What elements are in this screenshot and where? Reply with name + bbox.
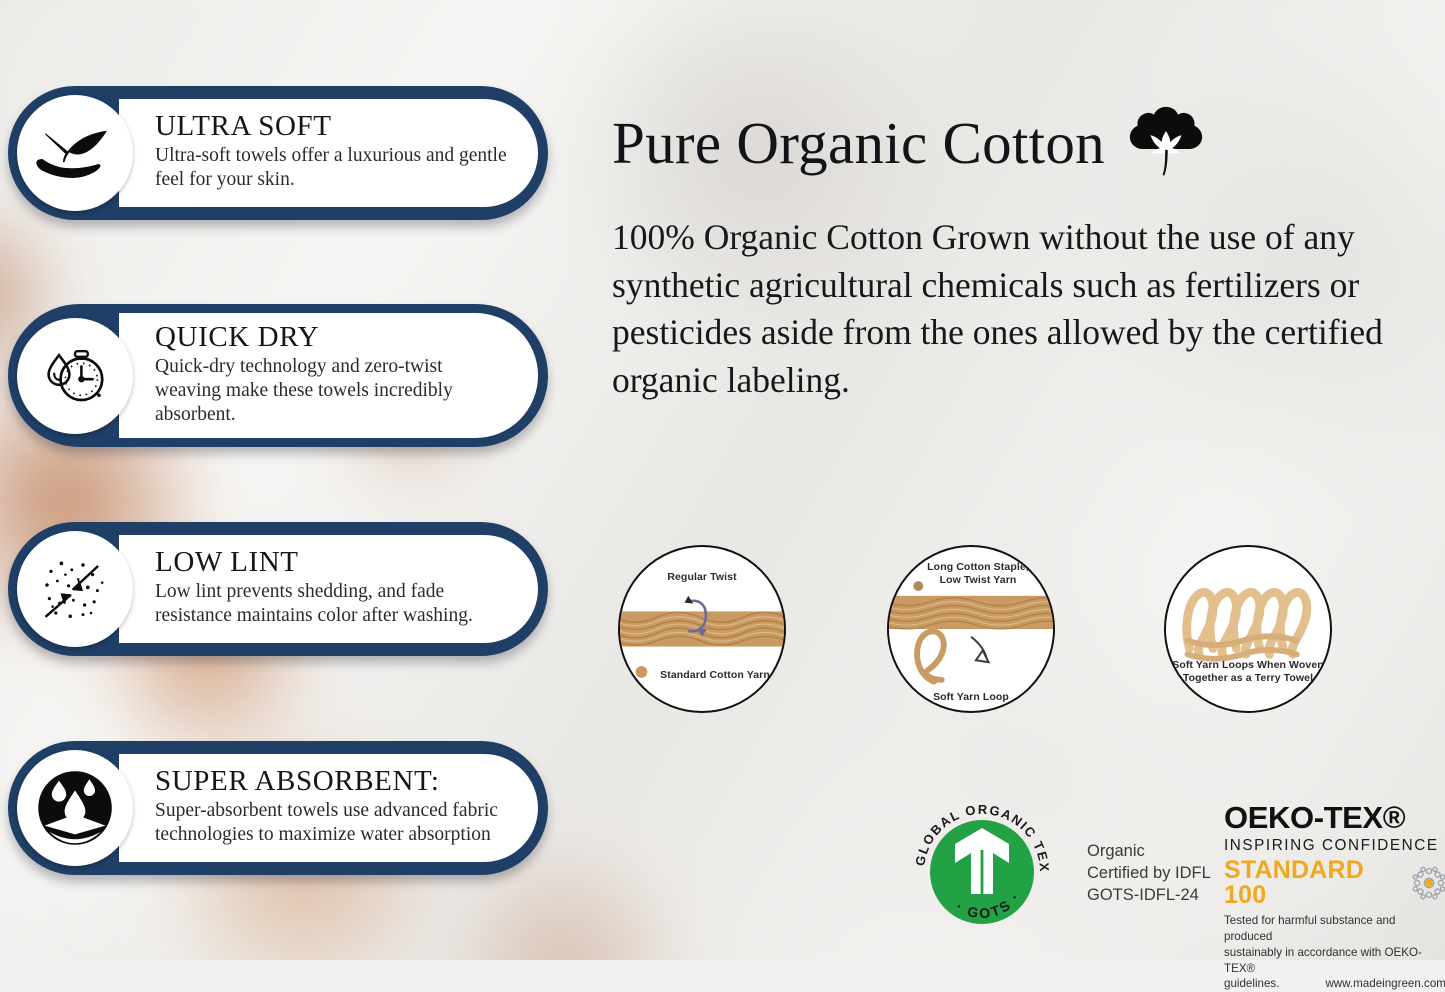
oeko-url: www.madeingreen.com (1325, 976, 1445, 992)
gots-logo: GLOBAL ORGANIC TEXTILE STANDARD · GOTS · (902, 792, 1062, 952)
diagram-bottom-label: Soft Yarn Loops When Woven Together as a… (1166, 659, 1330, 685)
headline-row: Pure Organic Cotton (612, 100, 1445, 186)
hero-body-text: 100% Organic Cotton Grown without the us… (612, 214, 1412, 404)
feature-title: ULTRA SOFT (155, 111, 512, 142)
gots-detail-line-1: Organic (1087, 840, 1211, 862)
feature-title: QUICK DRY (155, 322, 512, 353)
certifications-group: GLOBAL ORGANIC TEXTILE STANDARD · GOTS ·… (612, 780, 1445, 960)
feather-on-hand-icon (35, 113, 115, 193)
feature-card-quick-dry[interactable]: QUICK DRY Quick-dry technology and zero-… (8, 304, 548, 447)
oeko-brand-name: OEKO-TEX® (1224, 802, 1445, 833)
feature-list: ULTRA SOFT Ultra-soft towels offer a lux… (0, 0, 565, 960)
terry-loops-illustration (1166, 547, 1330, 711)
terry-towel-loops-diagram: Soft Yarn Loops When Woven Together as a… (1164, 545, 1332, 713)
oeko-tex-logo: OEKO-TEX® INSPIRING CONFIDENCE STANDARD … (1224, 802, 1445, 992)
cotton-boll-icon (1123, 100, 1209, 186)
diagram-top-label: Long Cotton Staple, Low Twist Yarn (889, 561, 1053, 587)
gots-seal-icon: GLOBAL ORGANIC TEXTILE STANDARD · GOTS · (902, 792, 1062, 952)
lint-particles-icon (35, 549, 115, 629)
feature-card-super-absorbent[interactable]: SUPER ABSORBENT: Super-absorbent towels … (8, 741, 548, 875)
oeko-sunburst-icon (1412, 866, 1445, 900)
feature-icon-badge (17, 531, 133, 647)
feature-description: Quick-dry technology and zero-twist weav… (155, 355, 512, 428)
gots-certificate-details: Organic Certified by IDFL GOTS-IDFL-24 (1087, 840, 1211, 906)
feature-text-panel: SUPER ABSORBENT: Super-absorbent towels … (119, 754, 538, 862)
feature-card-low-lint[interactable]: LOW LINT Low lint prevents shedding, and… (8, 522, 548, 656)
oeko-fine-line-3: guidelines. (1224, 976, 1279, 992)
diagram-bottom-label: Soft Yarn Loop (889, 691, 1053, 704)
feature-title: LOW LINT (155, 547, 512, 578)
feature-pill: ULTRA SOFT Ultra-soft towels offer a lux… (8, 86, 548, 220)
feature-pill: LOW LINT Low lint prevents shedding, and… (8, 522, 548, 656)
low-twist-yarn-diagram: Long Cotton Staple, Low Twist Yarn Soft … (887, 545, 1055, 713)
regular-twist-diagram: Regular Twist Standard Cotton Yarn (618, 545, 786, 713)
feature-text-panel: LOW LINT Low lint prevents shedding, and… (119, 535, 538, 643)
oeko-standard-label: STANDARD 100 (1224, 858, 1404, 908)
gots-detail-line-3: GOTS-IDFL-24 (1087, 884, 1211, 906)
water-absorption-icon (35, 768, 115, 848)
feature-icon-badge (17, 95, 133, 211)
feature-description: Ultra-soft towels offer a luxurious and … (155, 144, 512, 192)
diagram-bottom-label: Standard Cotton Yarn (620, 669, 784, 682)
feature-description: Super-absorbent towels use advanced fabr… (155, 799, 512, 847)
feature-icon-badge (17, 318, 133, 434)
feature-text-panel: ULTRA SOFT Ultra-soft towels offer a lux… (119, 99, 538, 207)
right-content-column: Pure Organic Cotton 100% Organic Cotton … (612, 0, 1445, 960)
oeko-standard-row: STANDARD 100 (1224, 858, 1445, 908)
feature-title: SUPER ABSORBENT: (155, 766, 512, 797)
feature-pill: QUICK DRY Quick-dry technology and zero-… (8, 304, 548, 447)
oeko-fine-line-3-row: guidelines. www.madeingreen.com (1224, 976, 1445, 992)
feature-text-panel: QUICK DRY Quick-dry technology and zero-… (119, 313, 538, 438)
droplet-stopwatch-icon (35, 336, 115, 416)
oeko-tagline: INSPIRING CONFIDENCE (1224, 838, 1445, 853)
diagram-top-label: Regular Twist (620, 571, 784, 584)
gots-detail-line-2: Certified by IDFL (1087, 862, 1211, 884)
oeko-fine-line-2: sustainably in accordance with OEKO-TEX® (1224, 945, 1445, 977)
oeko-fine-print: Tested for harmful substance and produce… (1224, 913, 1445, 992)
yarn-diagram-group: Regular Twist Standard Cotton Yarn (612, 545, 1445, 720)
feature-pill: SUPER ABSORBENT: Super-absorbent towels … (8, 741, 548, 875)
feature-card-ultra-soft[interactable]: ULTRA SOFT Ultra-soft towels offer a lux… (8, 86, 548, 220)
page-title: Pure Organic Cotton (612, 109, 1105, 178)
oeko-fine-line-1: Tested for harmful substance and produce… (1224, 913, 1445, 945)
feature-icon-badge (17, 750, 133, 866)
feature-description: Low lint prevents shedding, and fade res… (155, 580, 512, 628)
